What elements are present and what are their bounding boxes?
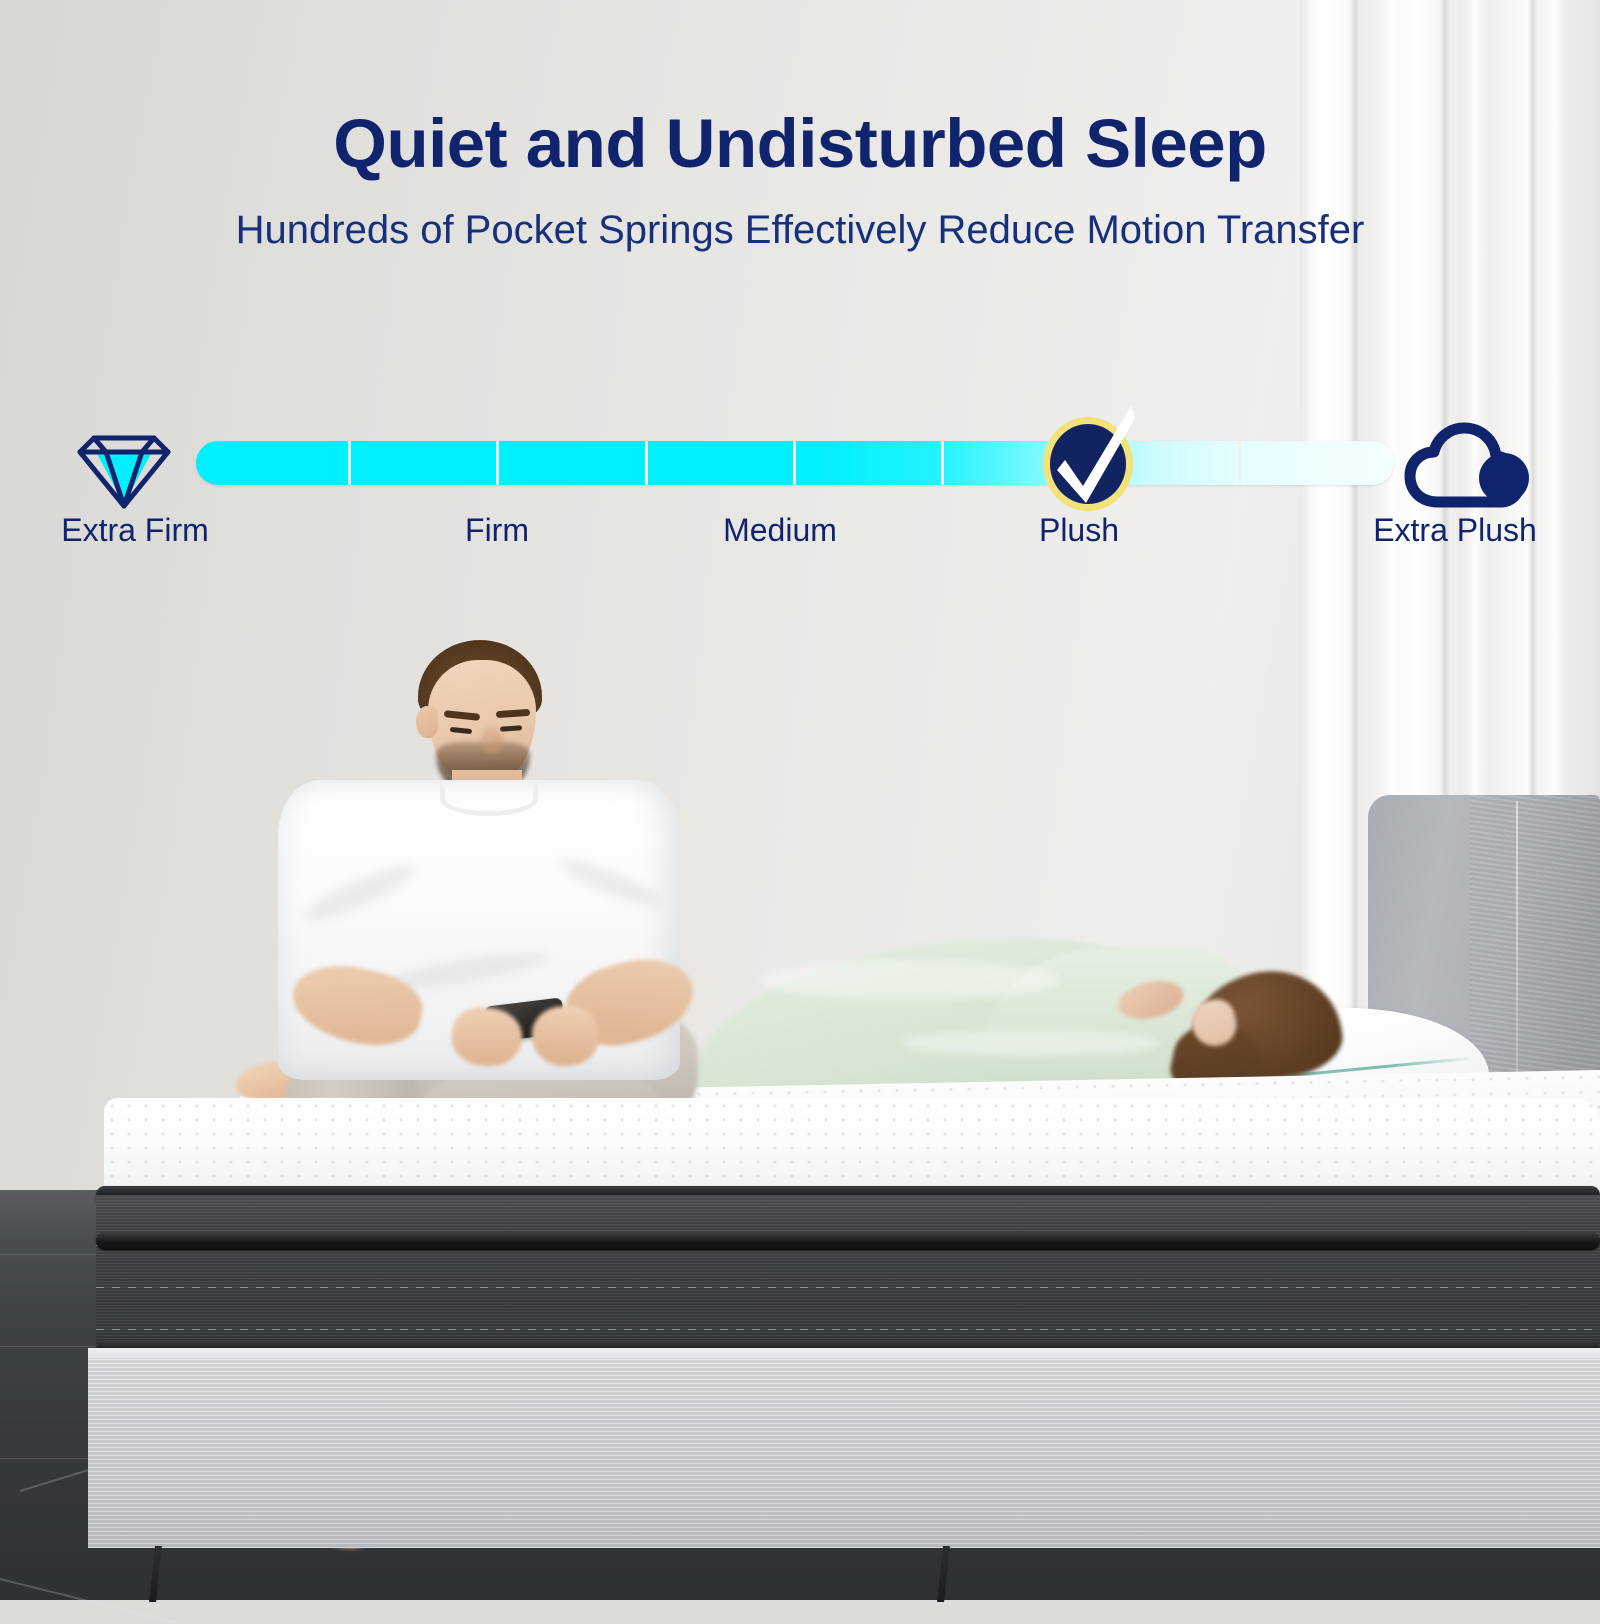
scale-label-medium: Medium <box>723 512 837 549</box>
bar-divider <box>348 441 351 485</box>
mattress-side-panel <box>96 1195 1600 1363</box>
bar-divider <box>645 441 648 485</box>
man-nose <box>481 728 503 754</box>
bar-divider <box>941 441 944 485</box>
scale-label-firm: Firm <box>465 512 529 549</box>
scale-label-extra-firm: Extra Firm <box>61 512 209 549</box>
man-ear <box>416 706 438 738</box>
scale-label-extra-plush: Extra Plush <box>1373 512 1537 549</box>
mattress-piping-mid <box>96 1232 1600 1250</box>
bar-divider <box>1238 441 1241 485</box>
diamond-icon <box>72 418 176 510</box>
bar-divider <box>496 441 499 485</box>
scale-label-plush: Plush <box>1039 512 1119 549</box>
firmness-scale: Extra Firm Firm Medium Plush Extra Plush <box>0 0 1600 600</box>
man-collar <box>440 782 538 816</box>
check-badge-icon[interactable] <box>1034 404 1142 512</box>
cloud-icon <box>1404 420 1532 510</box>
bar-divider <box>793 441 796 485</box>
bed-foundation <box>88 1358 1600 1548</box>
